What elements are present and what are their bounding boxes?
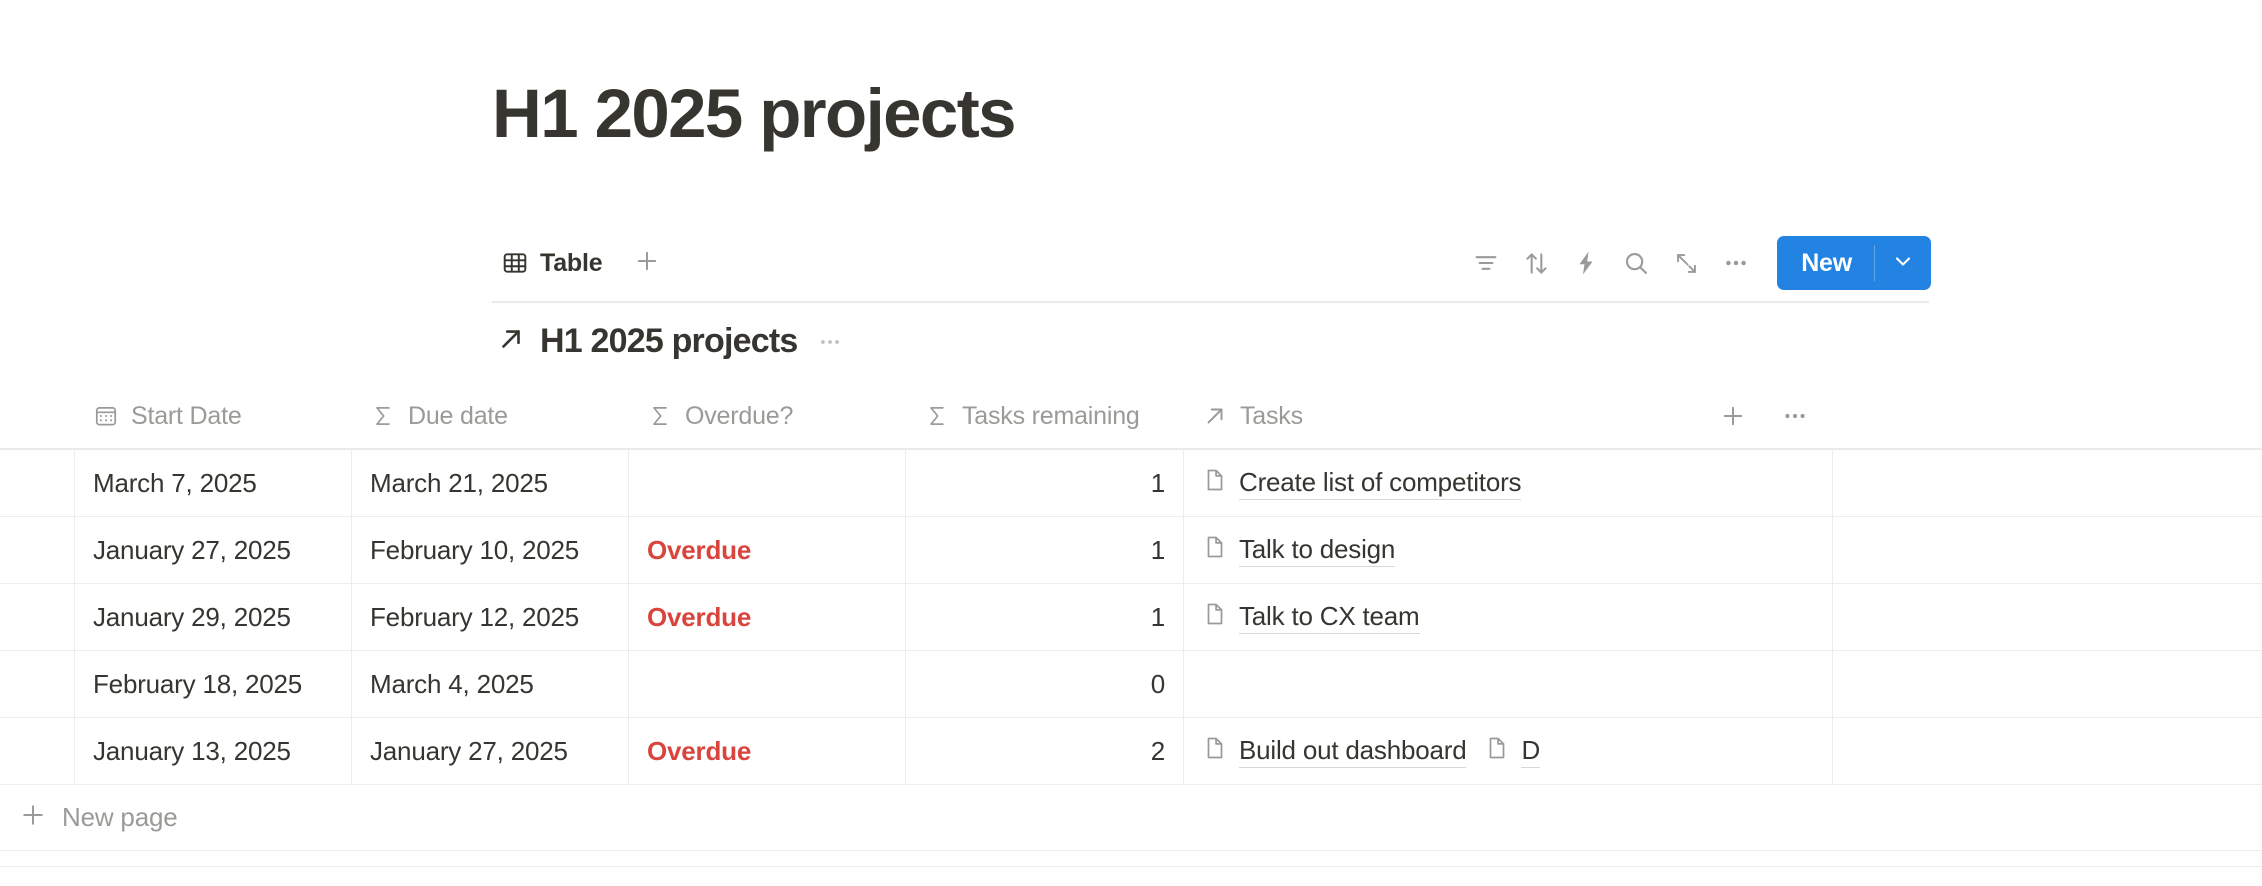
row-handle[interactable] — [0, 450, 75, 516]
cell-spacer — [1833, 584, 2262, 650]
cell-overdue[interactable]: Overdue — [629, 718, 906, 784]
more-options-button[interactable] — [1713, 240, 1759, 286]
column-header-tasks-remaining-label: Tasks remaining — [962, 402, 1140, 431]
task-name: Talk to CX team — [1239, 601, 1420, 634]
new-page-row[interactable]: New page — [0, 785, 2262, 851]
column-header-spacer — [1833, 384, 2262, 448]
cell-due-date[interactable]: February 12, 2025 — [352, 584, 629, 650]
ellipsis-icon — [1722, 249, 1750, 277]
page-icon — [1484, 735, 1510, 768]
column-header-overdue[interactable]: Overdue? — [629, 384, 906, 448]
column-header-tasks-label: Tasks — [1240, 402, 1303, 431]
more-properties-button[interactable] — [1775, 396, 1815, 436]
task-name: Build out dashboard — [1239, 735, 1466, 768]
new-page-label: New page — [62, 802, 177, 833]
search-button[interactable] — [1613, 240, 1659, 286]
database-more-button[interactable] — [817, 329, 843, 355]
table-row[interactable]: January 27, 2025 February 10, 2025 Overd… — [0, 517, 2262, 584]
cell-due-date[interactable]: March 4, 2025 — [352, 651, 629, 717]
tab-table[interactable]: Table — [492, 243, 612, 284]
column-header-tasks-remaining[interactable]: Tasks remaining — [906, 384, 1184, 448]
cell-spacer — [1833, 718, 2262, 784]
task-name: D — [1521, 735, 1540, 768]
expand-button[interactable] — [1663, 240, 1709, 286]
new-button-label: New — [1777, 236, 1874, 290]
plus-icon — [18, 800, 48, 835]
cell-tasks[interactable]: Create list of competitors — [1184, 450, 1833, 516]
cell-tasks[interactable]: Talk to CX team — [1184, 584, 1833, 650]
page-icon — [1202, 601, 1228, 634]
cell-start-date[interactable]: January 27, 2025 — [75, 517, 352, 583]
add-property-button[interactable] — [1713, 396, 1753, 436]
cell-due-date[interactable]: February 10, 2025 — [352, 517, 629, 583]
view-toolbar: Table — [492, 228, 1931, 298]
cell-overdue[interactable] — [629, 450, 906, 516]
tab-table-label: Table — [540, 249, 602, 278]
task-relation-chip[interactable]: Create list of competitors — [1202, 467, 1521, 500]
toolbar-right: New — [1463, 236, 1931, 290]
row-handle[interactable] — [0, 718, 75, 784]
column-header-due-date-label: Due date — [408, 402, 508, 431]
column-header-tasks[interactable]: Tasks — [1184, 384, 1833, 448]
task-name: Create list of competitors — [1239, 467, 1521, 500]
cell-due-date[interactable]: January 27, 2025 — [352, 718, 629, 784]
cell-spacer — [1833, 651, 2262, 717]
database-table: Start Date Due date Overdue? — [0, 384, 2262, 851]
cell-start-date[interactable]: March 7, 2025 — [75, 450, 352, 516]
cell-start-date[interactable]: January 13, 2025 — [75, 718, 352, 784]
cell-tasks-remaining[interactable]: 1 — [906, 450, 1184, 516]
row-handle[interactable] — [0, 651, 75, 717]
cell-tasks[interactable]: Build out dashboard D — [1184, 718, 1833, 784]
table-row[interactable]: March 7, 2025 March 21, 2025 1 Create li… — [0, 450, 2262, 517]
cell-tasks[interactable] — [1184, 651, 1833, 717]
arrow-up-right-icon — [496, 324, 526, 359]
table-header-row: Start Date Due date Overdue? — [0, 384, 2262, 450]
task-relation-chip[interactable]: Build out dashboard — [1202, 735, 1466, 768]
column-header-actions — [1695, 396, 1815, 436]
column-header-overdue-label: Overdue? — [685, 402, 793, 431]
cell-spacer — [1833, 450, 2262, 516]
chevron-down-icon — [1891, 249, 1915, 278]
task-relation-chip[interactable]: Talk to design — [1202, 534, 1395, 567]
sort-button[interactable] — [1513, 240, 1559, 286]
cell-tasks[interactable]: Talk to design — [1184, 517, 1833, 583]
task-relation-chip[interactable]: D — [1484, 735, 1540, 768]
task-relation-chip[interactable]: Talk to CX team — [1202, 601, 1420, 634]
cell-due-date[interactable]: March 21, 2025 — [352, 450, 629, 516]
plus-icon — [633, 247, 661, 280]
cell-tasks-remaining[interactable]: 1 — [906, 584, 1184, 650]
cell-start-date[interactable]: January 29, 2025 — [75, 584, 352, 650]
new-button-dropdown[interactable] — [1875, 236, 1931, 290]
database-title-row: H1 2025 projects — [496, 322, 843, 361]
sort-icon — [1522, 249, 1551, 278]
toolbar-divider — [492, 301, 1929, 303]
cell-start-date[interactable]: February 18, 2025 — [75, 651, 352, 717]
cell-spacer — [1833, 517, 2262, 583]
cell-overdue[interactable]: Overdue — [629, 584, 906, 650]
calendar-icon — [93, 403, 119, 429]
table-icon — [502, 250, 528, 276]
cell-tasks-remaining[interactable]: 1 — [906, 517, 1184, 583]
cell-overdue[interactable] — [629, 651, 906, 717]
cell-tasks-remaining[interactable]: 0 — [906, 651, 1184, 717]
page-icon — [1202, 534, 1228, 567]
cell-overdue[interactable]: Overdue — [629, 517, 906, 583]
add-view-button[interactable] — [626, 242, 668, 284]
relation-arrow-icon — [1202, 403, 1228, 429]
page-icon — [1202, 467, 1228, 500]
row-handle[interactable] — [0, 517, 75, 583]
table-bottom-divider — [0, 866, 2262, 867]
table-row[interactable]: February 18, 2025 March 4, 2025 0 — [0, 651, 2262, 718]
column-header-start-date[interactable]: Start Date — [75, 384, 352, 448]
task-name: Talk to design — [1239, 534, 1395, 567]
search-icon — [1622, 249, 1650, 277]
expand-icon — [1673, 250, 1700, 277]
formula-sigma-icon — [370, 403, 396, 429]
column-header-start-date-label: Start Date — [131, 402, 242, 431]
column-header-due-date[interactable]: Due date — [352, 384, 629, 448]
filter-icon — [1472, 249, 1500, 277]
column-header-handle — [0, 384, 75, 448]
database-title[interactable]: H1 2025 projects — [540, 322, 797, 361]
page-title[interactable]: H1 2025 projects — [492, 78, 1015, 150]
toolbar-left: Table — [492, 242, 668, 284]
row-handle[interactable] — [0, 584, 75, 650]
lightning-icon — [1572, 249, 1600, 277]
cell-tasks-remaining[interactable]: 2 — [906, 718, 1184, 784]
new-button[interactable]: New — [1777, 236, 1931, 290]
filter-button[interactable] — [1463, 240, 1509, 286]
table-row[interactable]: January 29, 2025 February 12, 2025 Overd… — [0, 584, 2262, 651]
formula-sigma-icon — [647, 403, 673, 429]
formula-sigma-icon — [924, 403, 950, 429]
notion-page: H1 2025 projects Table — [0, 0, 2262, 886]
page-icon — [1202, 735, 1228, 768]
table-row[interactable]: January 13, 2025 January 27, 2025 Overdu… — [0, 718, 2262, 785]
automation-button[interactable] — [1563, 240, 1609, 286]
